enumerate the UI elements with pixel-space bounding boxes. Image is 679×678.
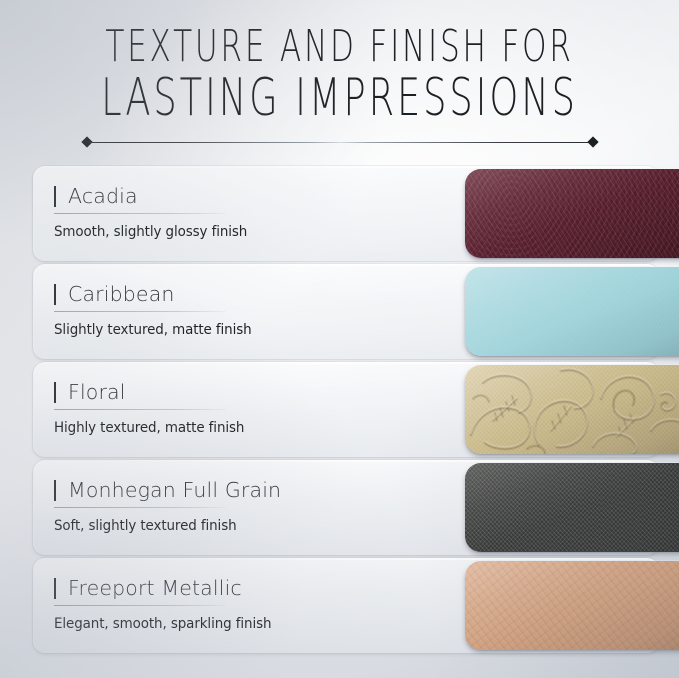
swatch-name: Monhegan Full Grain xyxy=(68,478,454,502)
swatch-text-block: Freeport Metallic Elegant, smooth, spark… xyxy=(54,576,454,633)
swatch-text-block: Acadia Smooth, slightly glossy finish xyxy=(54,184,454,241)
name-underline xyxy=(54,605,226,606)
swatch-sample-caribbean[interactable] xyxy=(465,267,679,356)
swatch-sample-floral[interactable] xyxy=(465,365,679,454)
swatch-name: Acadia xyxy=(68,184,454,208)
divider-rule xyxy=(89,142,591,143)
swatch-sample-freeport-metallic[interactable] xyxy=(465,561,679,650)
poster-header: TEXTURE AND FINISH FOR LASTING IMPRESSIO… xyxy=(0,0,679,148)
title-line-1: TEXTURE AND FINISH FOR xyxy=(68,22,611,74)
name-underline xyxy=(54,213,226,214)
swatch-sheen-overlay xyxy=(465,169,679,258)
accent-tick-icon xyxy=(54,578,56,599)
decorative-divider xyxy=(83,136,597,148)
swatch-name: Caribbean xyxy=(68,282,454,306)
list-item[interactable]: Acadia Smooth, slightly glossy finish xyxy=(0,166,679,263)
name-underline xyxy=(54,507,226,508)
accent-tick-icon xyxy=(54,284,56,305)
swatch-sheen-overlay xyxy=(465,365,679,454)
accent-tick-icon xyxy=(54,186,56,207)
list-item[interactable]: Caribbean Slightly textured, matte finis… xyxy=(0,264,679,361)
swatch-description: Highly textured, matte finish xyxy=(54,419,438,437)
swatch-description: Slightly textured, matte finish xyxy=(54,321,438,339)
list-item[interactable]: Monhegan Full Grain Soft, slightly textu… xyxy=(0,460,679,557)
swatch-description: Soft, slightly textured finish xyxy=(54,517,438,535)
list-item[interactable]: Floral Highly textured, matte finish xyxy=(0,362,679,459)
swatch-sheen-overlay xyxy=(465,267,679,356)
accent-tick-icon xyxy=(54,480,56,501)
diamond-right-icon xyxy=(587,136,598,147)
swatch-text-block: Floral Highly textured, matte finish xyxy=(54,380,454,437)
poster-canvas: TEXTURE AND FINISH FOR LASTING IMPRESSIO… xyxy=(0,0,679,678)
list-item[interactable]: Freeport Metallic Elegant, smooth, spark… xyxy=(0,558,679,655)
accent-tick-icon xyxy=(54,382,56,403)
name-underline xyxy=(54,311,226,312)
swatch-sample-acadia[interactable] xyxy=(465,169,679,258)
swatch-description: Elegant, smooth, sparkling finish xyxy=(54,615,438,633)
swatch-text-block: Caribbean Slightly textured, matte finis… xyxy=(54,282,454,339)
name-underline xyxy=(54,409,226,410)
swatch-sheen-overlay xyxy=(465,561,679,650)
title-line-2: LASTING IMPRESSIONS xyxy=(68,68,611,126)
swatch-sample-monhegan-full-grain[interactable] xyxy=(465,463,679,552)
swatch-name: Floral xyxy=(68,380,454,404)
swatch-text-block: Monhegan Full Grain Soft, slightly textu… xyxy=(54,478,454,535)
swatch-description: Smooth, slightly glossy finish xyxy=(54,223,438,241)
swatch-list: Acadia Smooth, slightly glossy finish Ca… xyxy=(0,166,679,655)
swatch-sheen-overlay xyxy=(465,463,679,552)
swatch-name: Freeport Metallic xyxy=(68,576,454,600)
